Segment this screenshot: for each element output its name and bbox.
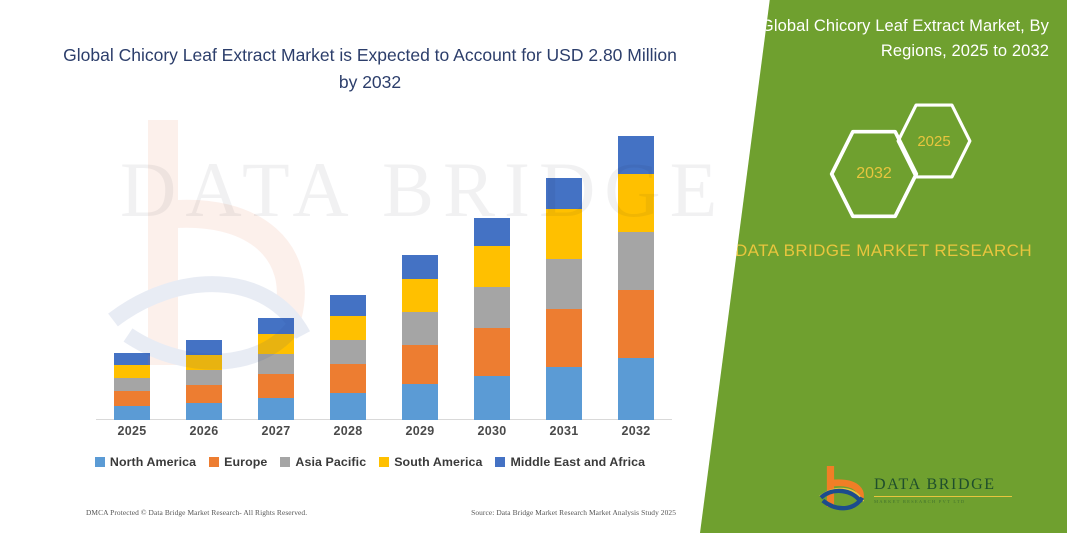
- bar-segment: [546, 309, 582, 367]
- hexagon-2032: 2032: [828, 128, 920, 220]
- legend-swatch-icon: [495, 457, 505, 467]
- hexagon-group: 2025 2032: [810, 100, 1010, 220]
- x-axis-tick: 2031: [528, 424, 600, 438]
- bar-segment: [330, 364, 366, 393]
- logo-title: DATA BRIDGE: [874, 476, 1012, 494]
- footer-copyright: DMCA Protected © Data Bridge Market Rese…: [86, 508, 307, 517]
- brand-panel: Global Chicory Leaf Extract Market, By R…: [700, 0, 1067, 533]
- footer-source: Source: Data Bridge Market Research Mark…: [471, 508, 676, 517]
- logo-subtitle: MARKET RESEARCH PVT LTD: [874, 499, 1012, 504]
- bar-segment: [330, 393, 366, 420]
- legend-item[interactable]: Europe: [209, 455, 267, 469]
- logo-wordmark: DATA BRIDGE MARKET RESEARCH PVT LTD: [874, 476, 1012, 504]
- legend-label: South America: [394, 455, 482, 469]
- data-bridge-logo: DATA BRIDGE MARKET RESEARCH PVT LTD: [818, 462, 1038, 518]
- x-axis-tick: 2032: [600, 424, 672, 438]
- x-axis-tick: 2028: [312, 424, 384, 438]
- page-title: Global Chicory Leaf Extract Market is Ex…: [60, 42, 680, 96]
- bar-segment: [258, 398, 294, 420]
- stacked-bar: [402, 255, 438, 420]
- legend-swatch-icon: [280, 457, 290, 467]
- watermark-text: DATA BRIDGE MARKET RESEARCH: [120, 115, 740, 265]
- bar-segment: [546, 259, 582, 309]
- legend-item[interactable]: Asia Pacific: [280, 455, 366, 469]
- bar-segment: [330, 316, 366, 340]
- data-bridge-mark-icon: [818, 466, 866, 514]
- x-axis-tick: 2027: [240, 424, 312, 438]
- x-axis-tick-labels: 20252026202720282029203020312032: [96, 424, 672, 438]
- legend-label: Middle East and Africa: [510, 455, 645, 469]
- panel-title: Global Chicory Leaf Extract Market, By R…: [738, 14, 1049, 64]
- bar-segment: [186, 403, 222, 420]
- infographic-canvas: DATA BRIDGE MARKET RESEARCH Global Chico…: [0, 0, 1067, 533]
- x-axis-tick: 2025: [96, 424, 168, 438]
- chart-region: DATA BRIDGE MARKET RESEARCH Global Chico…: [0, 0, 740, 533]
- bar-segment: [546, 367, 582, 420]
- bar-segment: [474, 328, 510, 376]
- legend-swatch-icon: [209, 457, 219, 467]
- x-axis-tick: 2030: [456, 424, 528, 438]
- legend-swatch-icon: [379, 457, 389, 467]
- legend-label: Asia Pacific: [295, 455, 366, 469]
- legend-item[interactable]: South America: [379, 455, 482, 469]
- logo-divider: [874, 496, 1012, 497]
- chart-legend: North AmericaEuropeAsia PacificSouth Ame…: [60, 455, 680, 469]
- legend-label: Europe: [224, 455, 267, 469]
- brand-name: DATA BRIDGE MARKET RESEARCH: [720, 238, 1047, 264]
- bar-segment: [114, 406, 150, 420]
- legend-item[interactable]: Middle East and Africa: [495, 455, 645, 469]
- hexagon-2025-label: 2025: [917, 133, 950, 150]
- bar-segment: [402, 384, 438, 420]
- stacked-bar: [330, 295, 366, 420]
- bar-segment: [330, 295, 366, 316]
- bar-segment: [474, 376, 510, 420]
- bar-segment: [330, 340, 366, 364]
- legend-label: North America: [110, 455, 196, 469]
- bar-segment: [402, 345, 438, 384]
- bar-segment: [618, 358, 654, 420]
- footer: DMCA Protected © Data Bridge Market Rese…: [86, 508, 676, 517]
- bar-segment: [402, 279, 438, 312]
- legend-swatch-icon: [95, 457, 105, 467]
- x-axis-tick: 2029: [384, 424, 456, 438]
- legend-item[interactable]: North America: [95, 455, 196, 469]
- x-axis-tick: 2026: [168, 424, 240, 438]
- hexagon-2032-label: 2032: [856, 165, 892, 183]
- bar-segment: [402, 312, 438, 345]
- bar-segment: [618, 290, 654, 358]
- bar-segment: [474, 287, 510, 328]
